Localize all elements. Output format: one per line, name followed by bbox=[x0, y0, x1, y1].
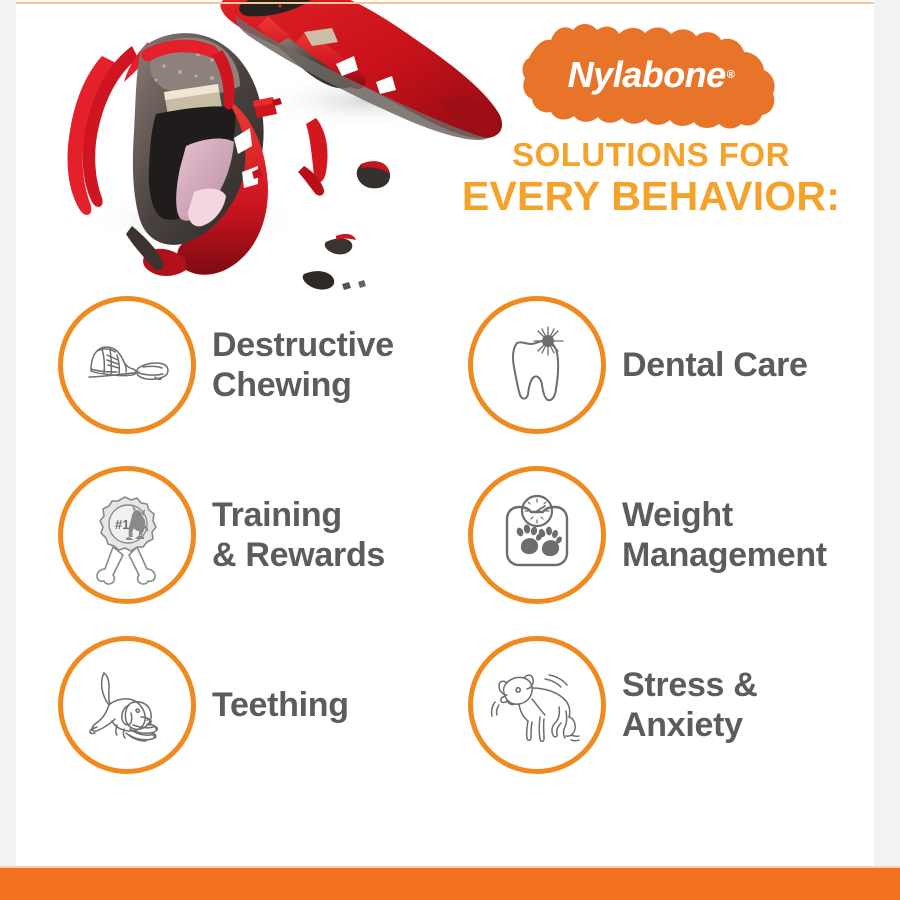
puppy-chewing-toy-icon bbox=[77, 655, 177, 755]
benefits-grid: Destructive Chewing bbox=[58, 290, 874, 800]
benefit-dental-care[interactable]: Dental Care bbox=[468, 290, 874, 440]
benefit-label: Destructive Chewing bbox=[212, 325, 394, 405]
headline: SOLUTIONS FOR EVERY BEHAVIOR: bbox=[416, 138, 874, 217]
benefit-label: Training & Rewards bbox=[212, 495, 385, 575]
benefit-label: Teething bbox=[212, 685, 349, 725]
shaking-dog-icon bbox=[487, 655, 587, 755]
benefits-row-2: #1 Training & Rewar bbox=[58, 460, 874, 630]
benefit-icon-circle bbox=[468, 296, 606, 434]
award-ribbon-dog-icon: #1 bbox=[77, 485, 177, 585]
top-divider bbox=[16, 2, 874, 4]
nylabone-logo: Nylabone® bbox=[521, 20, 781, 130]
brush-stroke-shape bbox=[521, 20, 781, 130]
benefit-icon-circle: #1 bbox=[58, 466, 196, 604]
sparkling-tooth-icon bbox=[487, 315, 587, 415]
benefit-icon-circle bbox=[468, 636, 606, 774]
bottom-orange-bar bbox=[0, 868, 900, 900]
benefit-training-rewards[interactable]: #1 Training & Rewar bbox=[58, 460, 468, 610]
paw-scale-icon bbox=[487, 485, 587, 585]
headline-line-2: EVERY BEHAVIOR: bbox=[416, 176, 874, 218]
benefits-row-3: Teething bbox=[58, 630, 874, 800]
benefits-row-1: Destructive Chewing bbox=[58, 290, 874, 460]
benefit-weight-management[interactable]: Weight Management bbox=[468, 460, 874, 610]
shoe-lower bbox=[68, 33, 268, 276]
award-badge-text: #1 bbox=[115, 517, 129, 532]
benefit-icon-circle bbox=[58, 296, 196, 434]
content-card: Nylabone® SOLUTIONS FOR EVERY BEHAVIOR: bbox=[16, 0, 874, 868]
infographic-page: Nylabone® SOLUTIONS FOR EVERY BEHAVIOR: bbox=[0, 0, 900, 900]
benefit-icon-circle bbox=[468, 466, 606, 604]
headline-line-1: SOLUTIONS FOR bbox=[416, 138, 874, 172]
chewed-shoe-icon bbox=[77, 315, 177, 415]
benefit-label: Weight Management bbox=[622, 495, 827, 575]
benefit-teething[interactable]: Teething bbox=[58, 630, 468, 780]
benefit-label: Stress & Anxiety bbox=[622, 665, 758, 745]
benefit-icon-circle bbox=[58, 636, 196, 774]
benefit-destructive-chewing[interactable]: Destructive Chewing bbox=[58, 290, 468, 440]
benefit-stress-anxiety[interactable]: Stress & Anxiety bbox=[468, 630, 874, 780]
benefit-label: Dental Care bbox=[622, 345, 808, 385]
